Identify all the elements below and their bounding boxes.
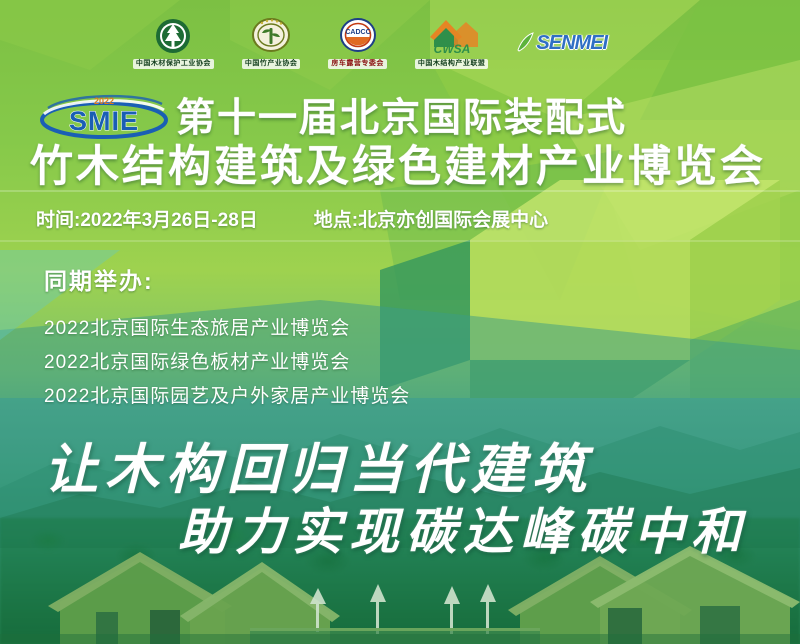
headline-line-2: 竹木结构建筑及绿色建材产业博览会 bbox=[0, 142, 800, 192]
sponsor-name-3: 中国木结构产业联盟 bbox=[415, 59, 489, 68]
pine-tree-shield-icon bbox=[151, 17, 195, 57]
sponsor-logo-2[interactable]: CADCC 房车露营专委会 bbox=[328, 17, 387, 68]
bamboo-seal-icon bbox=[250, 17, 292, 57]
concurrent-title: 同期举办: bbox=[44, 262, 564, 296]
event-meta: 时间:2022年3月26日-28日 地点:北京亦创国际会展中心 bbox=[36, 205, 766, 232]
sponsor-name-0: 中国木材保护工业协会 bbox=[133, 59, 214, 68]
senmei-wordmark: SENMEI bbox=[536, 32, 607, 55]
sponsor-logo-0[interactable]: 中国木材保护工业协会 bbox=[133, 17, 214, 68]
concurrent-item: 2022北京国际园艺及户外家居产业博览会 bbox=[44, 380, 564, 414]
house-roof-icon: CWSA bbox=[426, 17, 478, 57]
concurrent-item: 2022北京国际生态旅居产业博览会 bbox=[44, 312, 564, 346]
poster-headline: 第十一届北京国际装配式 竹木结构建筑及绿色建材产业博览会 bbox=[0, 96, 800, 192]
exhibition-poster: 中国木材保护工业协会 中国竹产业协会 CADCC bbox=[0, 0, 800, 644]
slogan-line-2: 助力实现碳达峰碳中和 bbox=[178, 492, 748, 564]
cadcc-oval-icon: CADCC bbox=[337, 17, 379, 57]
event-venue: 地点:北京亦创国际会展中心 bbox=[314, 205, 548, 232]
headline-line-1: 第十一届北京国际装配式 bbox=[0, 96, 800, 142]
event-date: 时间:2022年3月26日-28日 bbox=[36, 205, 258, 232]
sponsor-logo-strip: 中国木材保护工业协会 中国竹产业协会 CADCC bbox=[0, 0, 800, 86]
sponsor-logo-3[interactable]: CWSA 中国木结构产业联盟 bbox=[415, 17, 489, 68]
sponsor-logo-4[interactable]: SENMEI bbox=[516, 32, 607, 55]
svg-text:CWSA: CWSA bbox=[433, 42, 470, 56]
svg-text:CADCC: CADCC bbox=[345, 29, 370, 36]
concurrent-events: 同期举办: 2022北京国际生态旅居产业博览会 2022北京国际绿色板材产业博览… bbox=[44, 262, 564, 414]
leaf-wordmark-icon bbox=[516, 32, 534, 54]
sponsor-name-1: 中国竹产业协会 bbox=[242, 59, 301, 68]
sponsor-name-2: 房车露营专委会 bbox=[328, 59, 387, 68]
concurrent-item: 2022北京国际绿色板材产业博览会 bbox=[44, 346, 564, 380]
sponsor-logo-1[interactable]: 中国竹产业协会 bbox=[242, 17, 301, 68]
